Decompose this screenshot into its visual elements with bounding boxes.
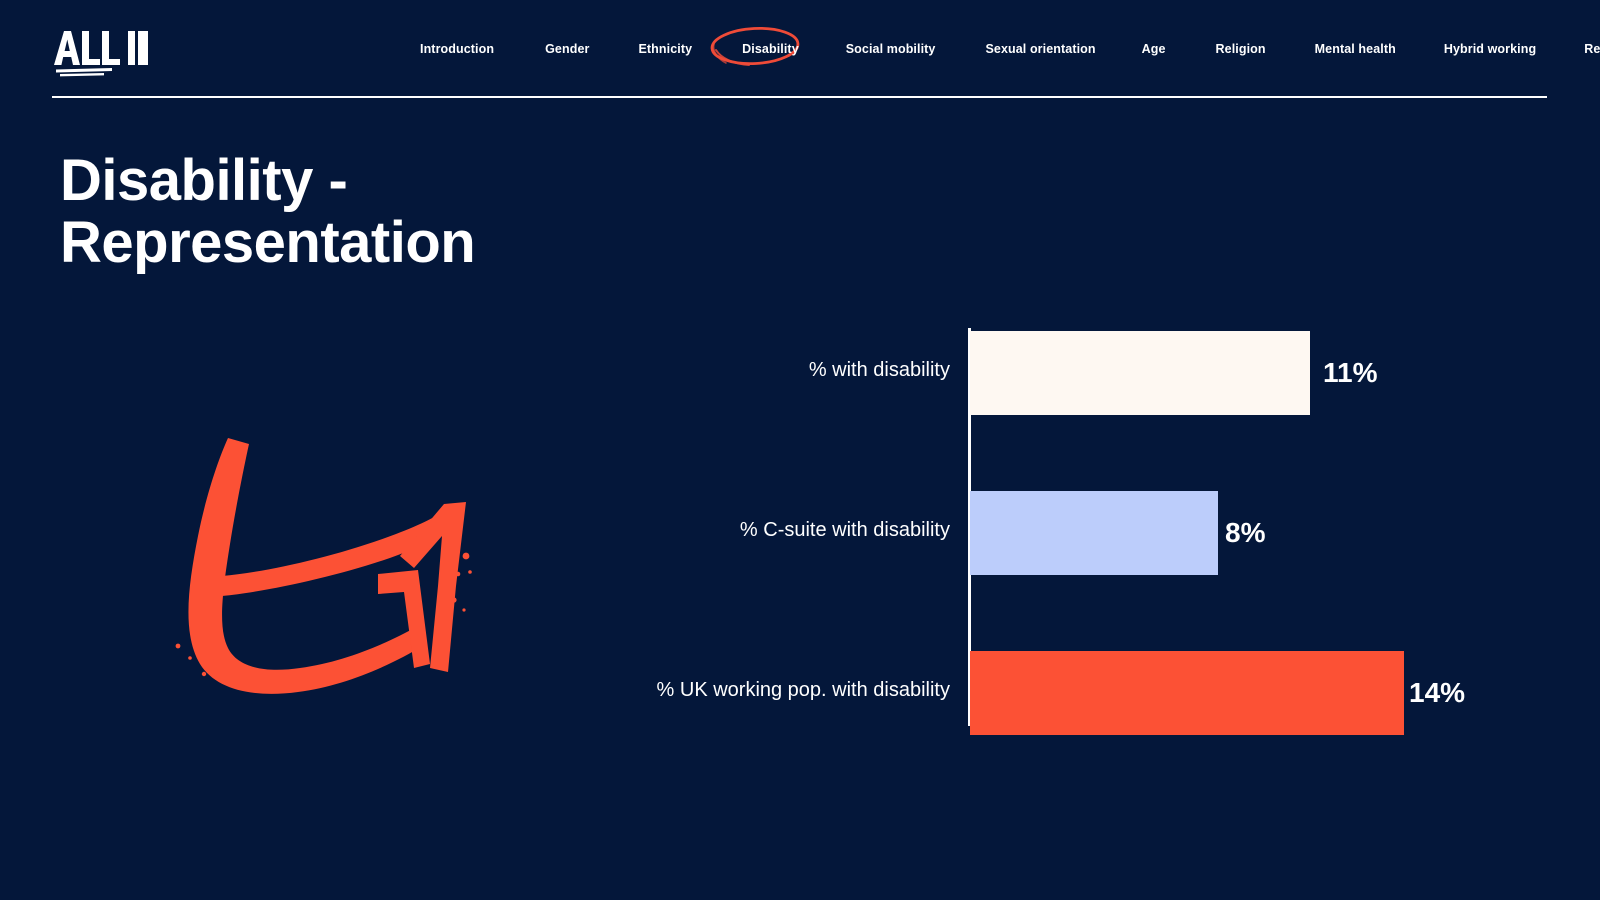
bar-category-label: % C-suite with disability: [740, 519, 950, 542]
header-divider: [52, 96, 1547, 98]
bar-uk-working-pop-with-disability[interactable]: [970, 651, 1404, 735]
nav-item-religion[interactable]: Religion: [1214, 39, 1268, 60]
nav-item-introduction[interactable]: Introduction: [418, 39, 496, 60]
chart-row: % C-suite with disability 8%: [560, 491, 1540, 575]
chart-row: % with disability 11%: [560, 331, 1540, 415]
bar-c-suite-with-disability[interactable]: [970, 491, 1218, 575]
nav-item-sexual-orientation[interactable]: Sexual orientation: [983, 39, 1097, 60]
page-header: Introduction Gender Ethnicity Disability…: [0, 0, 1600, 98]
bar-category-label: % with disability: [809, 359, 950, 382]
nav-item-age[interactable]: Age: [1140, 39, 1168, 60]
nav-item-gender[interactable]: Gender: [543, 39, 591, 60]
slide-root: Introduction Gender Ethnicity Disability…: [0, 0, 1600, 900]
main-navigation[interactable]: Introduction Gender Ethnicity Disability…: [400, 0, 1560, 98]
nav-item-disability[interactable]: Disability: [740, 38, 801, 60]
bar-value-label: 11%: [1323, 357, 1378, 389]
bar-category-label: % UK working pop. with disability: [657, 679, 950, 702]
representation-bar-chart: % with disability 11% % C-suite with dis…: [560, 300, 1540, 750]
nav-item-hybrid-working[interactable]: Hybrid working: [1442, 39, 1538, 60]
nav-item-social-mobility[interactable]: Social mobility: [844, 39, 938, 60]
bar-value-label: 8%: [1225, 517, 1265, 549]
nav-item-mental-health[interactable]: Mental health: [1313, 39, 1398, 60]
page-title: Disability - Representation: [60, 150, 760, 274]
all-in-logo[interactable]: [52, 27, 148, 77]
bar-value-label: 14%: [1409, 677, 1465, 709]
chart-row: % UK working pop. with disability 14%: [560, 651, 1540, 735]
nav-item-disability-wrapper[interactable]: Disability: [740, 40, 801, 58]
nav-item-ethnicity[interactable]: Ethnicity: [636, 39, 694, 60]
bar-with-disability[interactable]: [970, 331, 1310, 415]
nav-item-retention[interactable]: Retention: [1582, 39, 1600, 60]
hand-drawn-curved-arrow-icon: [118, 396, 484, 770]
